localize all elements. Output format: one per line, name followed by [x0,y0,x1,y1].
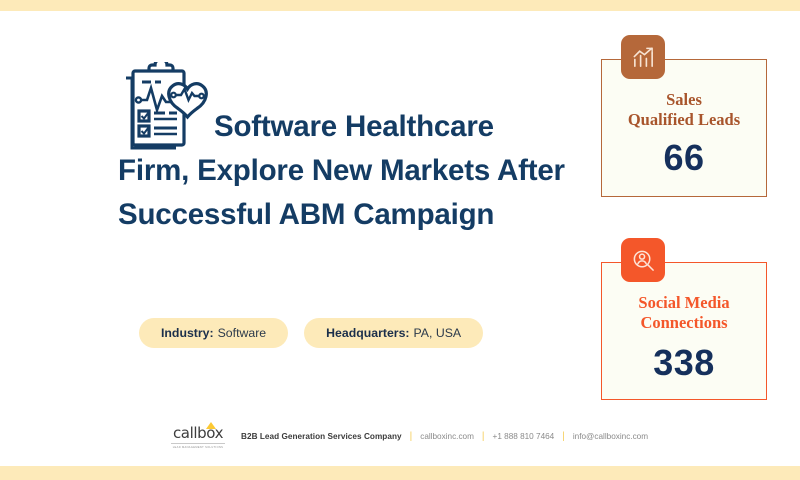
stat-card-2-label: Social Media Connections [610,293,758,333]
stat-card-2-label-line2: Connections [610,313,758,333]
tag-industry: Industry: Software [139,318,288,348]
callbox-logo: callbox LEAD MANAGEMENT SOLUTIONS [170,425,226,449]
stat-card-2-label-line1: Social Media [610,293,758,313]
footer-contact-line: B2B Lead Generation Services Company | c… [241,431,648,442]
stat-card-1-value: 66 [610,137,758,179]
footer-separator-1: | [410,431,413,442]
footer-tagline: B2B Lead Generation Services Company [241,432,402,441]
footer-email[interactable]: info@callboxinc.com [573,432,648,441]
stat-card-2-value: 338 [610,342,758,384]
stat-card-2-body: Social Media Connections 338 [602,293,766,384]
tag-headquarters-label: Headquarters: [326,326,409,340]
footer-website[interactable]: callboxinc.com [420,432,474,441]
tag-headquarters-value: PA, USA [414,326,462,340]
person-search-icon [621,238,665,282]
stat-card-1-body: Sales Qualified Leads 66 [602,90,766,179]
meta-tag-group: Industry: Software Headquarters: PA, USA [139,318,483,348]
stat-card-social-media-connections: Social Media Connections 338 [601,262,767,400]
logo-tagline: LEAD MANAGEMENT SOLUTIONS [171,443,225,449]
stat-card-1-label-line1: Sales [610,90,758,110]
stat-card-1-label-line2: Qualified Leads [610,110,758,130]
stat-card-1-label: Sales Qualified Leads [610,90,758,130]
tag-industry-label: Industry: [161,326,214,340]
tag-headquarters: Headquarters: PA, USA [304,318,483,348]
slide-canvas: Software Healthcare Firm, Explore New Ma… [0,0,800,480]
footer-separator-3: | [562,431,565,442]
bar-chart-growth-icon [621,35,665,79]
stat-card-sales-qualified-leads: Sales Qualified Leads 66 [601,59,767,197]
left-content-column: Software Healthcare Firm, Explore New Ma… [0,11,580,466]
page-title: Software Healthcare Firm, Explore New Ma… [118,105,568,237]
footer: callbox LEAD MANAGEMENT SOLUTIONS B2B Le… [170,425,648,449]
footer-separator-2: | [482,431,485,442]
logo-caret-icon [206,422,216,429]
bottom-accent-bar [0,466,800,480]
footer-phone[interactable]: +1 888 810 7464 [493,432,555,441]
top-accent-bar [0,0,800,11]
headline-block: Software Healthcare Firm, Explore New Ma… [118,105,568,237]
tag-industry-value: Software [218,326,267,340]
